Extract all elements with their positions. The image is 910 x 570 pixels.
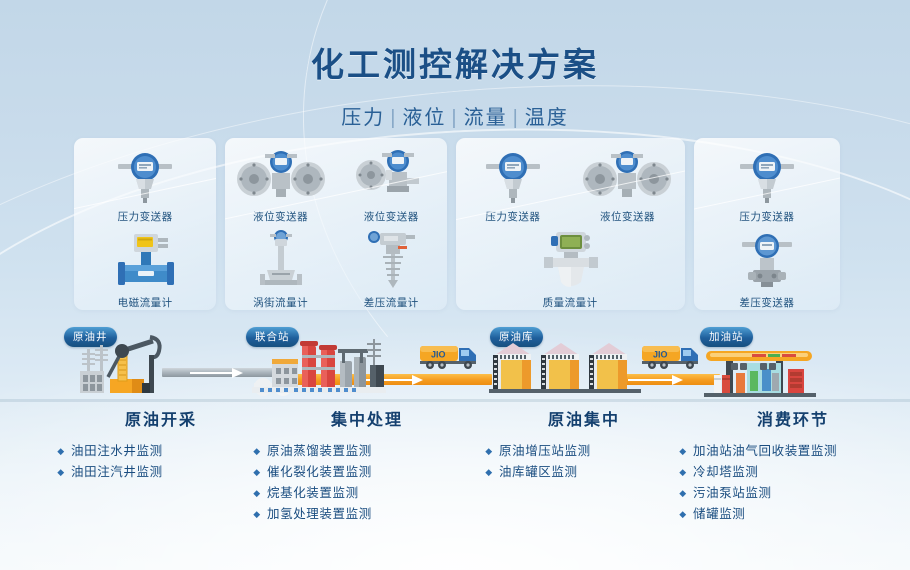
bullet-icon: ◆: [678, 462, 688, 483]
list-item[interactable]: ◆油库罐区监测: [484, 462, 684, 483]
product-label: 液位变送器: [339, 209, 443, 224]
differential-pressure-transmitter-icon: [715, 232, 819, 290]
bullet-icon: ◆: [252, 441, 262, 462]
card-row: 压力变送器: [694, 138, 840, 224]
product-item[interactable]: 差压变送器: [715, 232, 819, 310]
product-label: 压力变送器: [93, 209, 197, 224]
gas-station-icon: [700, 331, 824, 402]
subtitle-item-pressure: 压力: [341, 107, 385, 129]
product-label: 液位变送器: [229, 209, 333, 224]
product-label: 液位变送器: [575, 209, 679, 224]
list-item[interactable]: ◆储罐监测: [678, 504, 908, 525]
section-extraction: 原油开采 ◆油田注水井监测 ◆油田注汽井监测: [56, 406, 266, 483]
list-item[interactable]: ◆原油增压站监测: [484, 441, 684, 462]
bullet-icon: ◆: [252, 483, 262, 504]
tank-farm-icon: [489, 331, 641, 402]
bullet-icon: ◆: [678, 504, 688, 525]
section-list: ◆原油增压站监测 ◆油库罐区监测: [484, 441, 684, 483]
bullet-icon: ◆: [252, 504, 262, 525]
card-row: 压力变送器: [456, 138, 685, 224]
section-heading: 集中处理: [252, 406, 482, 430]
card-row: 质量流量计: [456, 224, 685, 310]
list-item[interactable]: ◆原油蒸馏装置监测: [252, 441, 482, 462]
product-item[interactable]: 电磁流量计: [93, 232, 197, 310]
list-item-label: 油库罐区监测: [499, 462, 578, 483]
truck-text: JIO: [431, 350, 446, 360]
list-item-label: 储罐监测: [693, 504, 745, 525]
list-item-label: 冷却塔监测: [693, 462, 759, 483]
bullet-icon: ◆: [252, 462, 262, 483]
section-list: ◆油田注水井监测 ◆油田注汽井监测: [56, 441, 266, 483]
product-card-level-flow[interactable]: 液位变送器: [225, 138, 446, 310]
product-item[interactable]: 涡街流量计: [229, 232, 333, 310]
flow-arrow-line: [190, 372, 234, 374]
section-heading: 消费环节: [678, 406, 908, 430]
electromagnetic-flowmeter-icon: [93, 232, 197, 290]
subtitle-separator-3: |: [513, 107, 520, 129]
tanker-truck: JIO: [418, 340, 480, 375]
bullet-icon: ◆: [678, 483, 688, 504]
product-item[interactable]: 液位变送器: [575, 146, 679, 224]
list-item[interactable]: ◆冷却塔监测: [678, 462, 908, 483]
card-row: 液位变送器: [225, 138, 446, 224]
list-item[interactable]: ◆烷基化装置监测: [252, 483, 482, 504]
subtitle-separator-2: |: [451, 107, 458, 129]
list-item-label: 污油泵站监测: [693, 483, 772, 504]
list-item[interactable]: ◆加油站油气回收装置监测: [678, 441, 908, 462]
level-transmitter-single-flange-icon: [339, 146, 443, 204]
pressure-transmitter-icon: [715, 146, 819, 204]
section-consumption: 消费环节 ◆加油站油气回收装置监测 ◆冷却塔监测 ◆污油泵站监测 ◆储罐监测: [678, 406, 908, 525]
subtitle-item-temperature: 温度: [525, 107, 569, 129]
bullet-icon: ◆: [56, 462, 66, 483]
card-row: 差压变送器: [694, 224, 840, 310]
list-item-label: 烷基化装置监测: [267, 483, 359, 504]
product-item[interactable]: 压力变送器: [715, 146, 819, 224]
oil-derrick-icon: [78, 331, 188, 402]
section-heading: 原油开采: [56, 406, 266, 430]
card-row: 涡街流量计: [225, 224, 446, 310]
section-list: ◆加油站油气回收装置监测 ◆冷却塔监测 ◆污油泵站监测 ◆储罐监测: [678, 441, 908, 525]
product-item[interactable]: 液位变送器: [339, 146, 443, 224]
tanker-truck: JIO: [640, 340, 702, 375]
product-item[interactable]: 压力变送器: [461, 146, 565, 224]
product-item[interactable]: 质量流量计: [518, 232, 622, 310]
section-list: ◆原油蒸馏装置监测 ◆催化裂化装置监测 ◆烷基化装置监测 ◆加氢处理装置监测: [252, 441, 482, 525]
product-label: 电磁流量计: [93, 295, 197, 310]
list-item[interactable]: ◆油田注汽井监测: [56, 462, 266, 483]
list-item[interactable]: ◆加氢处理装置监测: [252, 504, 482, 525]
pressure-transmitter-icon: [93, 146, 197, 204]
header: 化工测控解决方案 压力|液位|流量|温度: [0, 38, 910, 130]
product-label: 质量流量计: [518, 295, 622, 310]
product-card-pressure-flow[interactable]: 压力变送器: [74, 138, 216, 310]
flow-arrow-head: [412, 375, 423, 385]
bullet-icon: ◆: [484, 441, 494, 462]
section-heading: 原油集中: [484, 406, 684, 430]
list-item[interactable]: ◆油田注水井监测: [56, 441, 266, 462]
list-item-label: 油田注水井监测: [71, 441, 163, 462]
list-item-label: 原油增压站监测: [499, 441, 591, 462]
differential-pressure-flowmeter-icon: [339, 232, 443, 290]
product-card-pressure-level-mass[interactable]: 压力变送器: [456, 138, 685, 310]
section-processing: 集中处理 ◆原油蒸馏装置监测 ◆催化裂化装置监测 ◆烷基化装置监测 ◆加氢处理装…: [252, 406, 482, 525]
level-transmitter-dual-flange-icon: [575, 146, 679, 204]
product-item[interactable]: 液位变送器: [229, 146, 333, 224]
product-label: 压力变送器: [461, 209, 565, 224]
bullet-icon: ◆: [484, 462, 494, 483]
product-label: 涡街流量计: [229, 295, 333, 310]
product-label: 压力变送器: [715, 209, 819, 224]
poster-root: 化工测控解决方案 压力|液位|流量|温度: [0, 0, 910, 570]
card-row: 压力变送器: [74, 138, 216, 224]
list-item-label: 催化裂化装置监测: [267, 462, 372, 483]
section-columns: 原油开采 ◆油田注水井监测 ◆油田注汽井监测 集中处理 ◆原油蒸馏装置监测 ◆催…: [0, 406, 910, 556]
flow-arrow-head: [672, 375, 683, 385]
section-storage: 原油集中 ◆原油增压站监测 ◆油库罐区监测: [484, 406, 684, 483]
list-item[interactable]: ◆污油泵站监测: [678, 483, 908, 504]
bullet-icon: ◆: [678, 441, 688, 462]
mass-flowmeter-icon: [518, 232, 622, 290]
subtitle-item-flow: 流量: [464, 107, 508, 129]
product-label: 差压变送器: [715, 295, 819, 310]
list-item-label: 加氢处理装置监测: [267, 504, 372, 525]
card-row: 电磁流量计: [74, 224, 216, 310]
product-card-pressure-differential[interactable]: 压力变送器: [694, 138, 840, 310]
subtitle-item-level: 液位: [402, 107, 446, 129]
refinery-icon: [246, 331, 386, 402]
pressure-transmitter-icon: [461, 146, 565, 204]
page-title: 化工测控解决方案: [0, 38, 910, 86]
product-card-list: 压力变送器: [74, 138, 840, 310]
product-label: 差压流量计: [339, 295, 443, 310]
list-item-label: 原油蒸馏装置监测: [267, 441, 372, 462]
product-item[interactable]: 压力变送器: [93, 146, 197, 224]
bullet-icon: ◆: [56, 441, 66, 462]
product-item[interactable]: 差压流量计: [339, 232, 443, 310]
process-flow-diagram: 原油井: [0, 322, 910, 410]
truck-text: JIO: [653, 350, 668, 360]
flow-arrow-head: [232, 368, 243, 378]
level-transmitter-dual-flange-icon: [229, 146, 333, 204]
vortex-flowmeter-icon: [229, 232, 333, 290]
list-item-label: 加油站油气回收装置监测: [693, 441, 837, 462]
subtitle-separator-1: |: [390, 107, 397, 129]
list-item[interactable]: ◆催化裂化装置监测: [252, 462, 482, 483]
subtitle: 压力|液位|流量|温度: [0, 101, 910, 130]
list-item-label: 油田注汽井监测: [71, 462, 163, 483]
